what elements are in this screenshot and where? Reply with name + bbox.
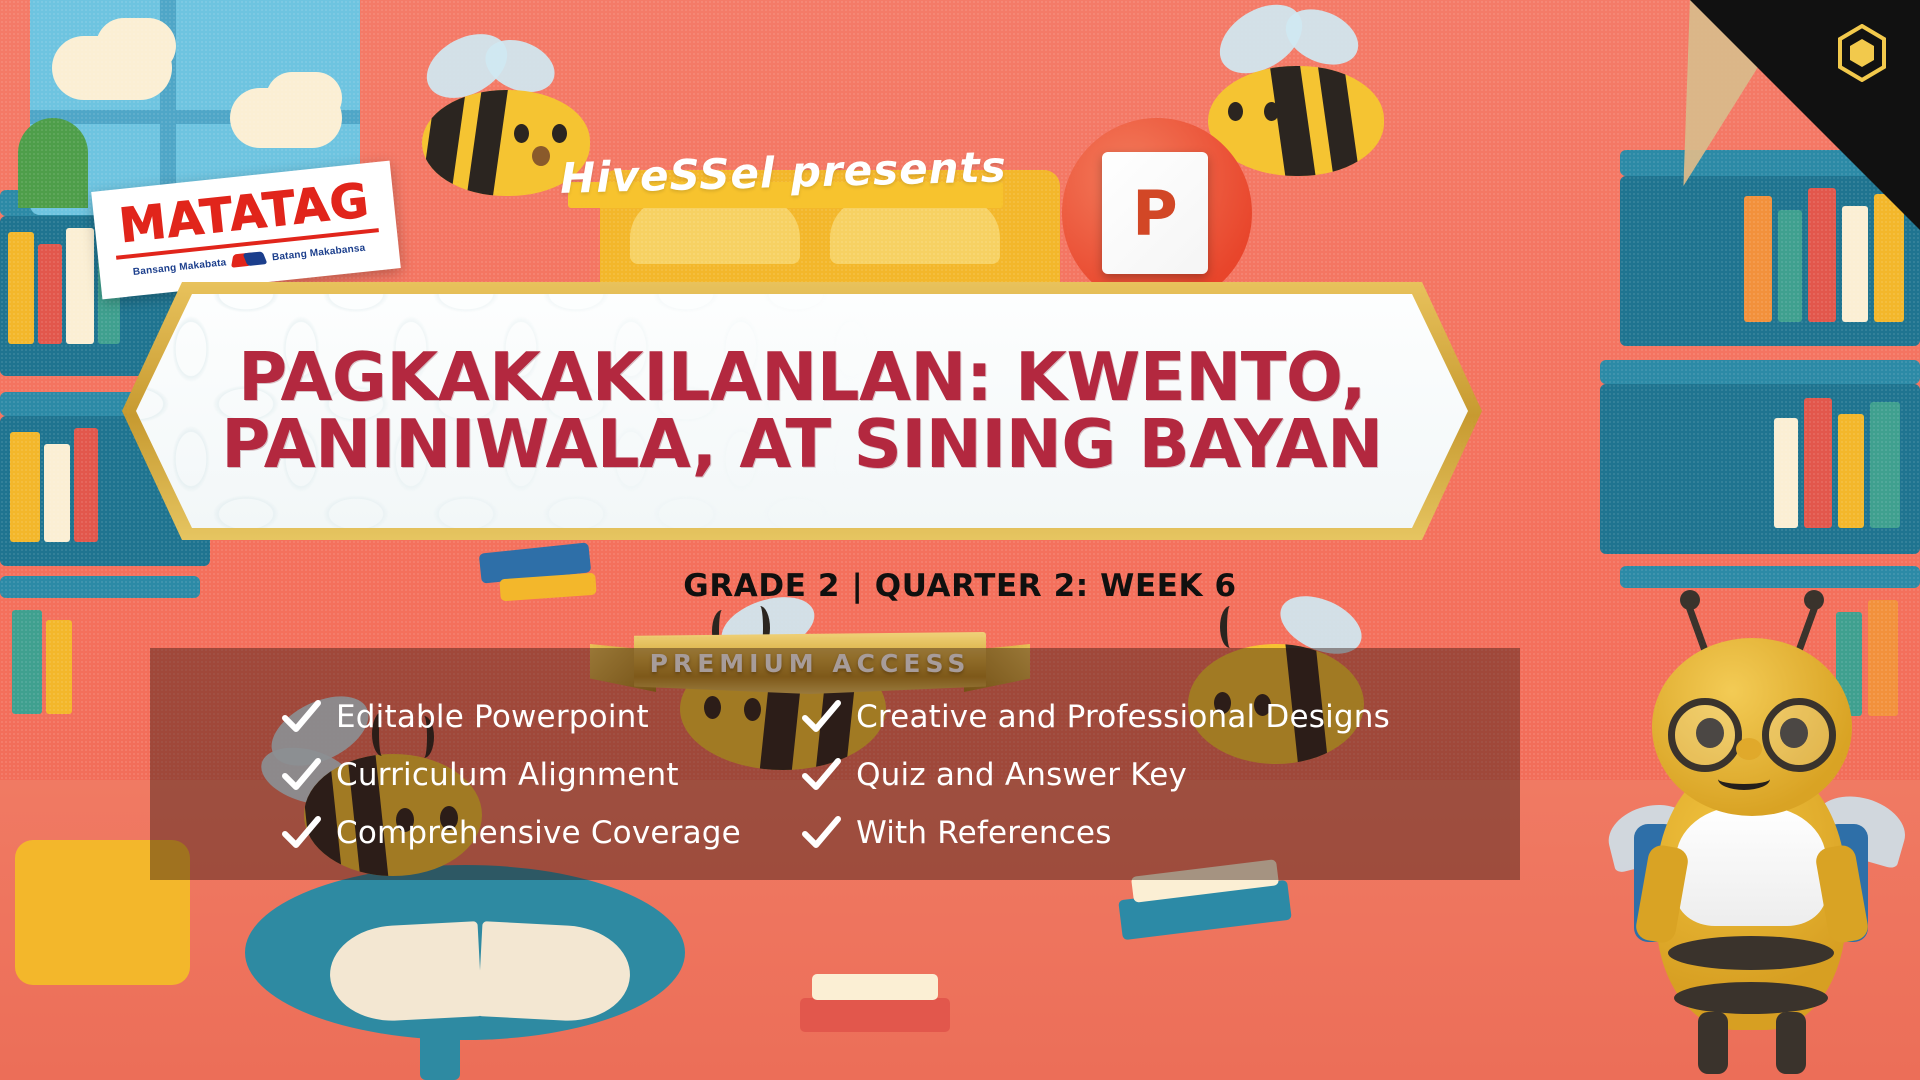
mascot-glasses-lens	[1668, 698, 1742, 772]
handshake-icon	[231, 248, 267, 271]
mascot-antenna-bulb	[1680, 590, 1700, 610]
bee-stripe	[1269, 66, 1317, 176]
title-card: PAGKAKAKILANLAN: KWENTO, PANINIWALA, AT …	[122, 282, 1482, 540]
mascot-smile	[1718, 768, 1770, 790]
bee-eye	[552, 124, 567, 143]
powerpoint-icon: P	[1062, 118, 1252, 308]
bee-eye	[514, 124, 529, 143]
bee-stripe	[465, 90, 508, 196]
check-icon	[800, 754, 842, 796]
mascot-leg	[1776, 1012, 1806, 1074]
book	[812, 974, 938, 1000]
hexagon-hive-logo-icon	[1836, 24, 1888, 82]
mascot-stripe	[1668, 936, 1834, 970]
feature-label: Comprehensive Coverage	[336, 815, 741, 851]
presenter-heading: HiveSSel presents	[560, 148, 1007, 197]
powerpoint-letter: P	[1132, 177, 1177, 250]
list-item: Creative and Professional Designs	[800, 688, 1390, 746]
mascot-nose	[1736, 738, 1762, 760]
check-icon	[800, 812, 842, 854]
open-book	[330, 925, 630, 1020]
bee-mouth	[532, 146, 550, 166]
poster-canvas: MATATAG Bansang Makabata Batang Makabans…	[0, 0, 1920, 1080]
bee-stripe	[422, 90, 467, 196]
title-line-2: PANINIWALA, AT SINING BAYAN	[221, 411, 1382, 478]
matatag-tagline-left: Bansang Makabata	[132, 257, 226, 278]
feature-label: Editable Powerpoint	[336, 699, 649, 735]
table-leg	[420, 1010, 460, 1080]
bee-antenna	[1220, 606, 1240, 648]
check-icon	[280, 696, 322, 738]
mascot-glasses-lens	[1762, 698, 1836, 772]
title-line-1: PAGKAKAKILANLAN: KWENTO,	[238, 344, 1366, 411]
book-page	[328, 921, 483, 1024]
check-icon	[280, 754, 322, 796]
list-item: Comprehensive Coverage	[280, 804, 800, 862]
feature-label: Creative and Professional Designs	[856, 699, 1390, 735]
feature-label: Curriculum Alignment	[336, 757, 679, 793]
subtitle: GRADE 2 | QUARTER 2: WEEK 6	[0, 568, 1920, 604]
mascot-stripe	[1674, 982, 1828, 1014]
list-item: With References	[800, 804, 1390, 862]
book-page	[478, 921, 633, 1024]
list-item: Editable Powerpoint	[280, 688, 800, 746]
bee-mascot-with-glasses-icon	[1602, 610, 1902, 1080]
features-list: Editable Powerpoint Creative and Profess…	[150, 680, 1520, 870]
mascot-antenna-bulb	[1804, 590, 1824, 610]
feature-label: Quiz and Answer Key	[856, 757, 1187, 793]
page-title: PAGKAKAKILANLAN: KWENTO, PANINIWALA, AT …	[122, 282, 1482, 540]
matatag-wordmark: MATATAG	[117, 177, 372, 250]
matatag-tagline-right: Batang Makabansa	[271, 242, 365, 263]
mascot-shirt	[1676, 806, 1826, 926]
bee-stripe	[1317, 66, 1361, 176]
list-item: Quiz and Answer Key	[800, 746, 1390, 804]
powerpoint-sheet: P	[1102, 152, 1208, 274]
mascot-leg	[1698, 1012, 1728, 1074]
feature-label: With References	[856, 815, 1112, 851]
list-item: Curriculum Alignment	[280, 746, 800, 804]
check-icon	[280, 812, 322, 854]
book	[800, 998, 950, 1032]
bee-eye	[1264, 102, 1279, 121]
check-icon	[800, 696, 842, 738]
